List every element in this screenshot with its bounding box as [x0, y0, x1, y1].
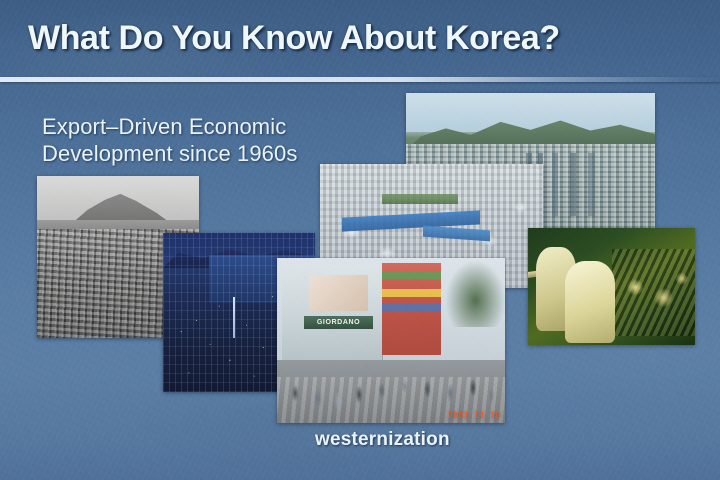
street-wall-poster	[309, 275, 368, 311]
street-tree	[446, 261, 505, 327]
cleanroom-worker-front	[565, 261, 615, 343]
store-sign-label: GIORDANO	[307, 317, 371, 329]
plant-green-structure	[382, 194, 458, 204]
page-title: What Do You Know About Korea?	[28, 19, 688, 58]
slide-canvas: What Do You Know About Korea?	[0, 0, 720, 480]
caption-westernization: westernization	[315, 429, 450, 451]
caption-export-driven-development: Export–Driven Economic Development since…	[42, 113, 297, 167]
street-banner-signs	[382, 271, 441, 347]
title-divider-rule	[0, 77, 720, 82]
night-observation-tower	[233, 297, 235, 338]
street-crowd	[277, 347, 505, 413]
cleanroom-equipment	[612, 249, 696, 336]
photo-cleanroom	[528, 228, 695, 345]
photo-date-stamp: 2001 11 10	[448, 411, 501, 420]
photo-shopping-street: GIORDANO 2001 11 10	[277, 258, 505, 423]
